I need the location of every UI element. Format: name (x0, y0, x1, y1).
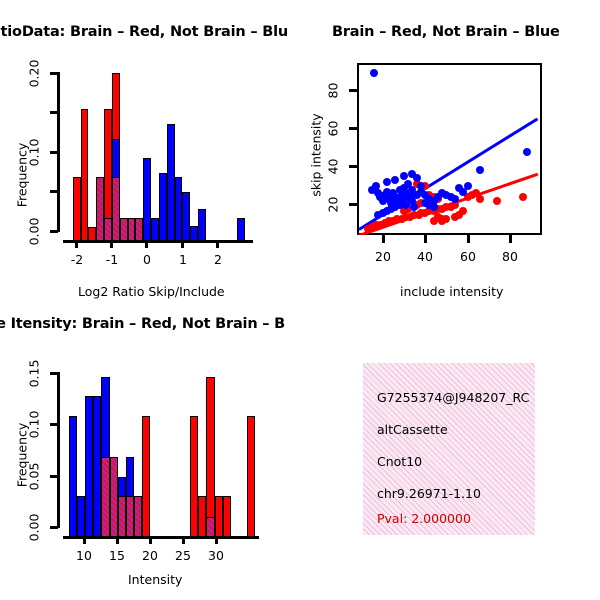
histogram-bar (142, 416, 150, 537)
histogram-bar (101, 457, 109, 537)
histogram-bar (134, 496, 142, 537)
scatter-xlabel: include intensity (400, 284, 503, 299)
scatter-y-ticklabel: 40 (326, 156, 341, 178)
scatter-point (519, 193, 527, 201)
info-line-locus: chr9.26971-1.10 (377, 486, 481, 501)
scatter-point (391, 176, 399, 184)
histogram-bar (206, 377, 214, 537)
info-line-gene-id: G7255374@J948207_RC (377, 390, 529, 405)
scatter-x-ticklabel: 20 (372, 249, 394, 264)
scatter-ylabel: skip intensity (309, 113, 324, 196)
scatter-point (459, 188, 467, 196)
scatter-point (408, 186, 416, 194)
scatter-x-ticklabel: 40 (414, 249, 436, 264)
scatter-point (430, 203, 438, 211)
info-line-gene-name: Cnot10 (377, 454, 422, 469)
histogram-bar (190, 416, 198, 537)
scatter-point (374, 211, 382, 219)
histogram-bar (247, 416, 255, 537)
histogram-bar (118, 496, 126, 537)
scatter-x-tick (424, 235, 427, 243)
histogram-bar (198, 496, 206, 537)
scatter-point (438, 217, 446, 225)
scatter-y-ticklabel: 80 (326, 80, 341, 102)
histogram-bar (85, 396, 93, 537)
histogram-bar (93, 396, 101, 537)
scatter-y-tick (349, 165, 357, 168)
scatter-point (372, 182, 380, 190)
scatter-point (383, 178, 391, 186)
scatter-point (413, 174, 421, 182)
gene-intensity-bars (0, 0, 300, 600)
histogram-bar (223, 496, 231, 537)
scatter-point (370, 69, 378, 77)
histogram-bar (77, 496, 85, 537)
scatter-x-ticklabel: 60 (457, 249, 479, 264)
scatter-point (430, 217, 438, 225)
histogram-bar (69, 416, 77, 537)
histogram-bar (215, 496, 223, 537)
scatter-point (476, 166, 484, 174)
scatter-point (493, 197, 501, 205)
info-line-pval: Pval: 2.000000 (377, 511, 471, 526)
scatter-x-tick (467, 235, 470, 243)
histogram-bar (206, 517, 214, 537)
scatter-points (357, 63, 542, 235)
gene-info-box: G7255374@J948207_RC altCassette Cnot10 c… (363, 363, 535, 535)
info-line-event-type: altCassette (377, 422, 448, 437)
scatter-y-ticklabel: 60 (326, 118, 341, 140)
scatter-y-ticklabel: 20 (326, 194, 341, 216)
scatter-point (400, 172, 408, 180)
scatter-y-tick (349, 89, 357, 92)
histogram-bar (126, 496, 134, 537)
scatter-y-tick (349, 203, 357, 206)
scatter-point (476, 195, 484, 203)
scatter-point (455, 211, 463, 219)
scatter-x-ticklabel: 80 (499, 249, 521, 264)
histogram-bar (110, 457, 118, 537)
scatter-x-tick (382, 235, 385, 243)
scatter-x-tick (509, 235, 512, 243)
scatter-point (523, 148, 531, 156)
scatter-title: Brain – Red, Not Brain – Blue (332, 24, 560, 40)
scatter-y-tick (349, 127, 357, 130)
